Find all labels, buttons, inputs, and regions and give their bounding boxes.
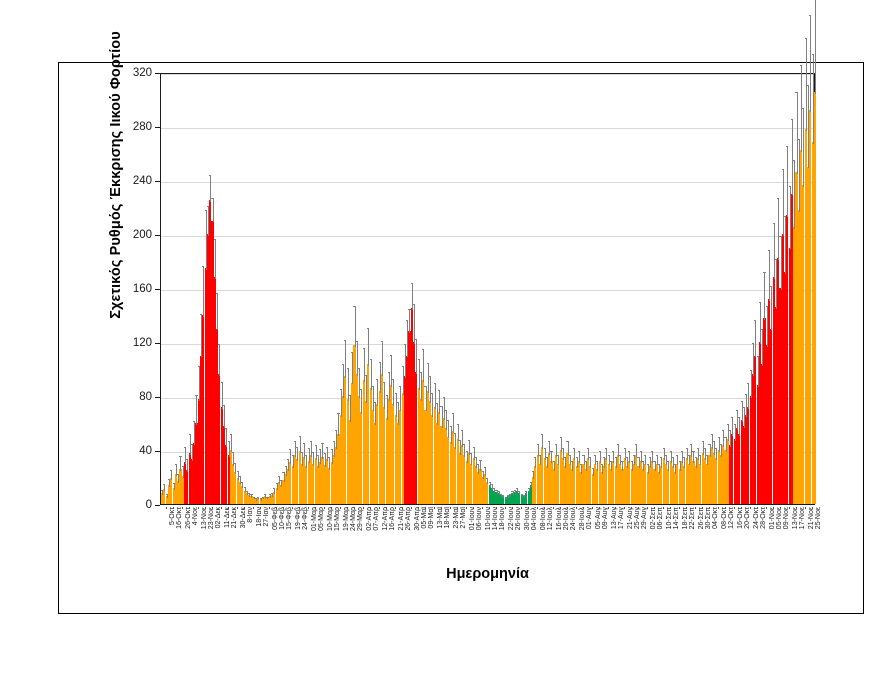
error-bar <box>600 451 601 463</box>
y-tick-mark <box>155 451 160 452</box>
error-bar-cap <box>406 320 408 321</box>
x-tick-label: 17-Αυγ <box>618 507 625 529</box>
error-bar-cap <box>795 92 797 93</box>
error-bar-cap <box>424 386 426 387</box>
x-tick-mark <box>324 507 325 509</box>
error-bar <box>570 455 571 466</box>
error-bar <box>444 397 445 420</box>
x-tick-mark <box>725 507 726 509</box>
x-tick-label: 20-Ιουλ <box>563 507 570 530</box>
x-tick-mark <box>750 507 751 509</box>
x-tick-mark <box>253 507 254 509</box>
error-bar <box>364 348 365 382</box>
error-bar-cap <box>637 457 639 458</box>
x-tick-label: 01-Νοε <box>769 507 776 529</box>
error-bar-cap <box>812 54 814 55</box>
error-bar-cap <box>282 472 284 473</box>
x-tick-label: 10-Ιουν <box>485 507 492 530</box>
x-tick-label: 12-Απρ <box>382 507 389 531</box>
error-bar-cap <box>214 239 216 240</box>
error-bar <box>448 420 449 439</box>
x-tick-mark <box>292 507 293 509</box>
error-bar-cap <box>727 424 729 425</box>
x-tick-mark <box>308 507 309 509</box>
error-bar-cap <box>608 455 610 456</box>
x-tick-label: 05-Μαρ <box>318 507 325 531</box>
x-tick-mark <box>434 507 435 509</box>
x-tick-label: 30-Ιουν <box>524 507 531 530</box>
error-bar-cap <box>704 448 706 449</box>
error-bar <box>419 359 420 390</box>
x-tick-label: 30-Απρ <box>414 507 421 531</box>
x-tick-label: 19-Φεβ <box>295 507 302 530</box>
error-bar-cap <box>381 341 383 342</box>
x-tick-label: 26-Ιουν <box>515 507 522 530</box>
x-tick-label: 27-Μαϊ <box>460 507 467 529</box>
x-tick-label: 07-Απρ <box>373 507 380 531</box>
plot-area <box>160 73 815 505</box>
x-tick-mark <box>221 507 222 509</box>
error-bar <box>391 355 392 387</box>
error-bar <box>561 437 562 452</box>
error-bar-cap <box>392 379 394 380</box>
x-tick-mark <box>331 507 332 509</box>
x-tick-mark <box>189 507 190 509</box>
error-bar-cap <box>724 437 726 438</box>
x-tick-mark <box>679 507 680 509</box>
error-bar <box>304 443 305 459</box>
error-bar <box>416 339 417 374</box>
error-bar-cap <box>189 434 191 435</box>
error-bar-cap <box>205 210 207 211</box>
error-bar-cap <box>773 223 775 224</box>
x-tick-label: 8-Ιαν <box>247 507 254 523</box>
error-bar-cap <box>640 451 642 452</box>
chart-page: Σχετικός Ρυθμός Έκκρισης Ιικού Φορτίου 0… <box>0 0 880 680</box>
x-tick-label: 24-Ιουλ <box>570 507 577 530</box>
error-bar-cap <box>555 444 557 445</box>
x-tick-mark <box>624 507 625 509</box>
x-tick-mark <box>379 507 380 509</box>
error-bar-cap <box>250 494 252 495</box>
x-tick-label: 27-Ιαν <box>263 507 270 527</box>
x-tick-label: 18-Μαϊ <box>444 507 451 529</box>
x-tick-mark <box>260 507 261 509</box>
x-tick-label: 10-Φεβ <box>279 507 286 530</box>
x-tick-mark <box>638 507 639 509</box>
error-bar-cap <box>241 482 243 483</box>
x-tick-label: 12-Ιουλ <box>547 507 554 530</box>
error-bar <box>677 455 678 466</box>
error-bar-cap <box>383 382 385 383</box>
x-tick-label: 06-Ιουν <box>476 507 483 530</box>
y-tick-mark <box>155 73 160 74</box>
error-bar-cap <box>708 444 710 445</box>
error-bar-cap <box>305 455 307 456</box>
error-bar <box>755 320 756 358</box>
error-bar-cap <box>750 370 752 371</box>
x-tick-mark <box>370 507 371 509</box>
x-tick-label: 01-Μαρ <box>311 507 318 531</box>
error-bar-cap <box>461 430 463 431</box>
error-bar-cap <box>635 444 637 445</box>
error-bar-cap <box>440 406 442 407</box>
x-tick-label: 08-Ιουλ <box>540 507 547 530</box>
y-tick-mark <box>155 505 160 506</box>
error-bar-cap <box>379 362 381 363</box>
error-bar-cap <box>429 376 431 377</box>
error-bar-cap <box>335 430 337 431</box>
x-tick-label: 16-Ιουλ <box>556 507 563 530</box>
x-tick-mark <box>228 507 229 509</box>
error-bar-cap <box>651 451 653 452</box>
error-bar-cap <box>484 467 486 468</box>
x-tick-mark <box>496 507 497 509</box>
x-tick-mark <box>576 507 577 509</box>
x-tick-mark <box>363 507 364 509</box>
x-tick-mark <box>425 507 426 509</box>
x-tick-label: 30-Σεπ <box>705 507 712 529</box>
x-tick-mark <box>647 507 648 509</box>
error-bar-cap <box>599 451 601 452</box>
x-tick-mark <box>299 507 300 509</box>
x-tick-mark <box>608 507 609 509</box>
x-tick-mark <box>718 507 719 509</box>
error-bar-cap <box>216 293 218 294</box>
error-bar-cap <box>802 108 804 109</box>
x-tick-label: 10-Μαρ <box>327 507 334 531</box>
error-bar <box>382 341 383 376</box>
error-bar-cap <box>569 455 571 456</box>
error-bar-cap <box>397 402 399 403</box>
x-tick-mark <box>734 507 735 509</box>
error-bar-cap <box>518 491 520 492</box>
x-tick-mark <box>615 507 616 509</box>
error-bar <box>171 470 172 481</box>
x-tick-mark <box>198 507 199 509</box>
error-bar <box>231 434 232 452</box>
x-tick-mark <box>411 507 412 509</box>
x-tick-label: 01-Ιουν <box>469 507 476 530</box>
x-tick-mark <box>340 507 341 509</box>
x-tick-mark <box>482 507 483 509</box>
error-bar-cap <box>587 448 589 449</box>
y-tick-label: 240 <box>112 175 152 187</box>
error-bar-cap <box>759 302 761 303</box>
x-tick-label: 29-Μαρ <box>357 507 364 531</box>
x-tick-label: 29-Αυγ <box>641 507 648 529</box>
y-tick-label: 40 <box>112 445 152 457</box>
error-bar-cap <box>576 457 578 458</box>
error-bar-cap <box>324 453 326 454</box>
error-bar-cap <box>356 341 358 342</box>
x-tick-mark <box>386 507 387 509</box>
x-axis-title: Ημερομηνία <box>160 566 815 582</box>
error-bar-cap <box>363 348 365 349</box>
x-tick-label: 21-Αυγ <box>627 507 634 529</box>
error-bar-cap <box>498 491 500 492</box>
x-tick-mark <box>805 507 806 509</box>
x-tick-mark <box>237 507 238 509</box>
error-bar-cap <box>489 482 491 483</box>
x-tick-mark <box>654 507 655 509</box>
error-bar <box>485 467 486 476</box>
error-bar-cap <box>289 449 291 450</box>
x-tick-mark <box>395 507 396 509</box>
x-tick-label: 13-Μαϊ <box>437 507 444 529</box>
error-bar <box>357 341 358 376</box>
error-bar-cap <box>308 448 310 449</box>
error-bar-cap <box>209 175 211 176</box>
error-bar-cap <box>477 464 479 465</box>
x-tick-mark <box>450 507 451 509</box>
x-tick-mark <box>695 507 696 509</box>
error-bar-cap <box>807 85 809 86</box>
error-bar <box>549 441 550 455</box>
error-bar-cap <box>328 457 330 458</box>
y-tick-mark <box>155 289 160 290</box>
error-bar-cap <box>647 464 649 465</box>
error-bar-cap <box>736 410 738 411</box>
error-bar-cap <box>431 393 433 394</box>
error-bar-cap <box>459 440 461 441</box>
x-tick-label: 10-Σεπ <box>666 507 673 529</box>
error-bar-cap <box>550 451 552 452</box>
error-bar-cap <box>573 448 575 449</box>
error-bar-cap <box>516 488 518 489</box>
x-tick-mark <box>780 507 781 509</box>
error-bar <box>373 386 374 412</box>
error-bar-cap <box>239 476 241 477</box>
error-bar-cap <box>594 455 596 456</box>
error-bar-cap <box>223 405 225 406</box>
error-bar-cap <box>230 434 232 435</box>
error-bar-cap <box>665 455 667 456</box>
y-tick-mark <box>155 343 160 344</box>
error-bar-cap <box>718 437 720 438</box>
error-bar <box>396 393 397 417</box>
error-bar-cap <box>479 460 481 461</box>
error-bar-cap <box>793 160 795 161</box>
error-bar <box>213 198 214 222</box>
x-tick-mark <box>212 507 213 509</box>
error-bar <box>164 484 165 491</box>
error-bar-cap <box>411 283 413 284</box>
x-tick-label: 13-Νοε <box>201 507 208 529</box>
x-tick-label: 09-Νοε <box>783 507 790 529</box>
error-bar-cap <box>202 266 204 267</box>
error-bar-cap <box>353 306 355 307</box>
x-tick-label: 26-Σεπ <box>698 507 705 529</box>
x-tick-mark <box>553 507 554 509</box>
x-tick-mark <box>418 507 419 509</box>
error-bar-cap <box>702 441 704 442</box>
error-bar-cap <box>566 441 568 442</box>
x-tick-label: 22-Ιουν <box>508 507 515 530</box>
error-bar-cap <box>388 372 390 373</box>
y-tick-label: 80 <box>112 391 152 403</box>
error-bar-cap <box>225 428 227 429</box>
x-tick-mark <box>173 507 174 509</box>
x-tick-label: 05-Φεβ <box>272 507 279 530</box>
x-tick-mark <box>663 507 664 509</box>
error-bar-cap <box>195 395 197 396</box>
error-bar-cap <box>768 250 770 251</box>
error-bar-cap <box>232 452 234 453</box>
error-bar-cap <box>450 426 452 427</box>
error-bar-cap <box>422 349 424 350</box>
x-tick-label: 18-Ιουν <box>499 507 506 530</box>
error-bar-cap <box>642 461 644 462</box>
error-bar-cap <box>370 359 372 360</box>
error-bar <box>480 460 481 471</box>
x-tick-mark <box>560 507 561 509</box>
error-bar-cap <box>287 459 289 460</box>
error-bar-cap <box>294 441 296 442</box>
y-tick-label: 160 <box>112 283 152 295</box>
x-tick-mark <box>489 507 490 509</box>
x-tick-label: 09-Μαϊ <box>428 507 435 529</box>
error-bar <box>226 428 227 447</box>
error-bar <box>322 443 323 459</box>
x-tick-label: 25-Αυγ <box>634 507 641 529</box>
error-bar-cap <box>470 453 472 454</box>
error-bar <box>453 413 454 433</box>
x-tick-mark <box>512 507 513 509</box>
error-bar-cap <box>789 186 791 187</box>
y-tick-mark <box>155 181 160 182</box>
error-bar <box>609 455 610 466</box>
error-bar-cap <box>347 368 349 369</box>
x-tick-mark <box>521 507 522 509</box>
y-tick-label: 0 <box>112 499 152 511</box>
error-bar-cap <box>221 382 223 383</box>
error-bar <box>439 390 440 414</box>
error-bar <box>732 417 733 436</box>
error-bar <box>666 455 667 466</box>
x-tick-mark <box>670 507 671 509</box>
x-tick-label: 09-Αυγ <box>602 507 609 529</box>
x-tick-label: 21-Απρ <box>398 507 405 531</box>
error-bar-cap <box>454 433 456 434</box>
x-tick-mark <box>269 507 270 509</box>
error-bar-cap <box>619 455 621 456</box>
x-tick-label: 05-Αυγ <box>595 507 602 529</box>
x-tick-label: 02-Σεπ <box>650 507 657 529</box>
y-tick-mark <box>155 235 160 236</box>
error-bar-cap <box>754 320 756 321</box>
error-bar-cap <box>468 440 470 441</box>
error-bar <box>568 441 569 455</box>
error-bar-cap <box>713 441 715 442</box>
x-tick-label: 16-Οκτ <box>737 507 744 529</box>
error-bar-cap <box>372 386 374 387</box>
error-bar <box>311 441 312 457</box>
error-bar <box>723 430 724 446</box>
error-bar-cap <box>399 386 401 387</box>
error-bar-cap <box>601 464 603 465</box>
error-bar-cap <box>582 455 584 456</box>
error-bar-cap <box>537 444 539 445</box>
error-bar-cap <box>445 410 447 411</box>
error-bar-cap <box>653 461 655 462</box>
bar-series <box>161 74 814 504</box>
error-bar <box>224 405 225 428</box>
x-tick-mark <box>283 507 284 509</box>
error-bar <box>430 376 431 403</box>
error-bar-cap <box>782 169 784 170</box>
error-bar-cap <box>676 455 678 456</box>
error-bar-cap <box>418 359 420 360</box>
error-bar-cap <box>376 379 378 380</box>
error-bar-cap <box>663 448 665 449</box>
error-bar-cap <box>315 445 317 446</box>
x-tick-label: 14-Ιουν <box>492 507 499 530</box>
error-bar <box>787 146 788 218</box>
x-tick-mark <box>166 507 167 509</box>
error-bar-cap <box>560 437 562 438</box>
error-bar-cap <box>763 272 765 273</box>
error-bar-cap <box>800 65 802 66</box>
y-tick-label: 200 <box>112 229 152 241</box>
error-bar-cap <box>612 451 614 452</box>
x-tick-mark <box>244 507 245 509</box>
error-bar <box>412 283 413 310</box>
x-tick-label: 08-Οκτ <box>721 507 728 529</box>
x-tick-label: 18-Σεπ <box>682 507 689 529</box>
error-bar-cap <box>342 364 344 365</box>
error-bar-cap <box>413 304 415 305</box>
error-bar-cap <box>457 424 459 425</box>
x-tick-label: 23-Μαϊ <box>453 507 460 529</box>
y-tick-mark <box>155 397 160 398</box>
error-bar <box>815 0 816 94</box>
error-bar <box>368 328 369 366</box>
error-bar-cap <box>285 466 287 467</box>
x-tick-mark <box>402 507 403 509</box>
error-bar-cap <box>237 471 239 472</box>
x-tick-label: 16-Απρ <box>389 507 396 531</box>
error-bar-cap <box>386 395 388 396</box>
error-bar-cap <box>337 413 339 414</box>
error-bar-cap <box>715 448 717 449</box>
x-tick-mark <box>796 507 797 509</box>
error-bar-cap <box>644 455 646 456</box>
error-bar-cap <box>404 344 406 345</box>
error-bar-cap <box>374 402 376 403</box>
error-bar <box>584 455 585 466</box>
error-bar <box>810 15 811 112</box>
error-bar <box>764 272 765 319</box>
error-bar-cap <box>278 476 280 477</box>
error-bar-cap <box>548 441 550 442</box>
x-tick-label: 02-Δεκ <box>215 507 222 528</box>
x-tick-label: 14-Σεπ <box>673 507 680 529</box>
error-bar <box>620 455 621 466</box>
error-bar-cap <box>344 340 346 341</box>
x-tick-mark <box>354 507 355 509</box>
error-bar-cap <box>631 461 633 462</box>
error-bar <box>435 383 436 409</box>
error-bar <box>774 223 775 280</box>
x-tick-label: 04-Ιουλ <box>531 507 538 530</box>
error-bar-cap <box>491 484 493 485</box>
x-tick-label: 22-Σεπ <box>689 507 696 529</box>
error-bar-cap <box>264 494 266 495</box>
x-tick-mark <box>457 507 458 509</box>
x-tick-mark <box>567 507 568 509</box>
x-tick-mark <box>686 507 687 509</box>
